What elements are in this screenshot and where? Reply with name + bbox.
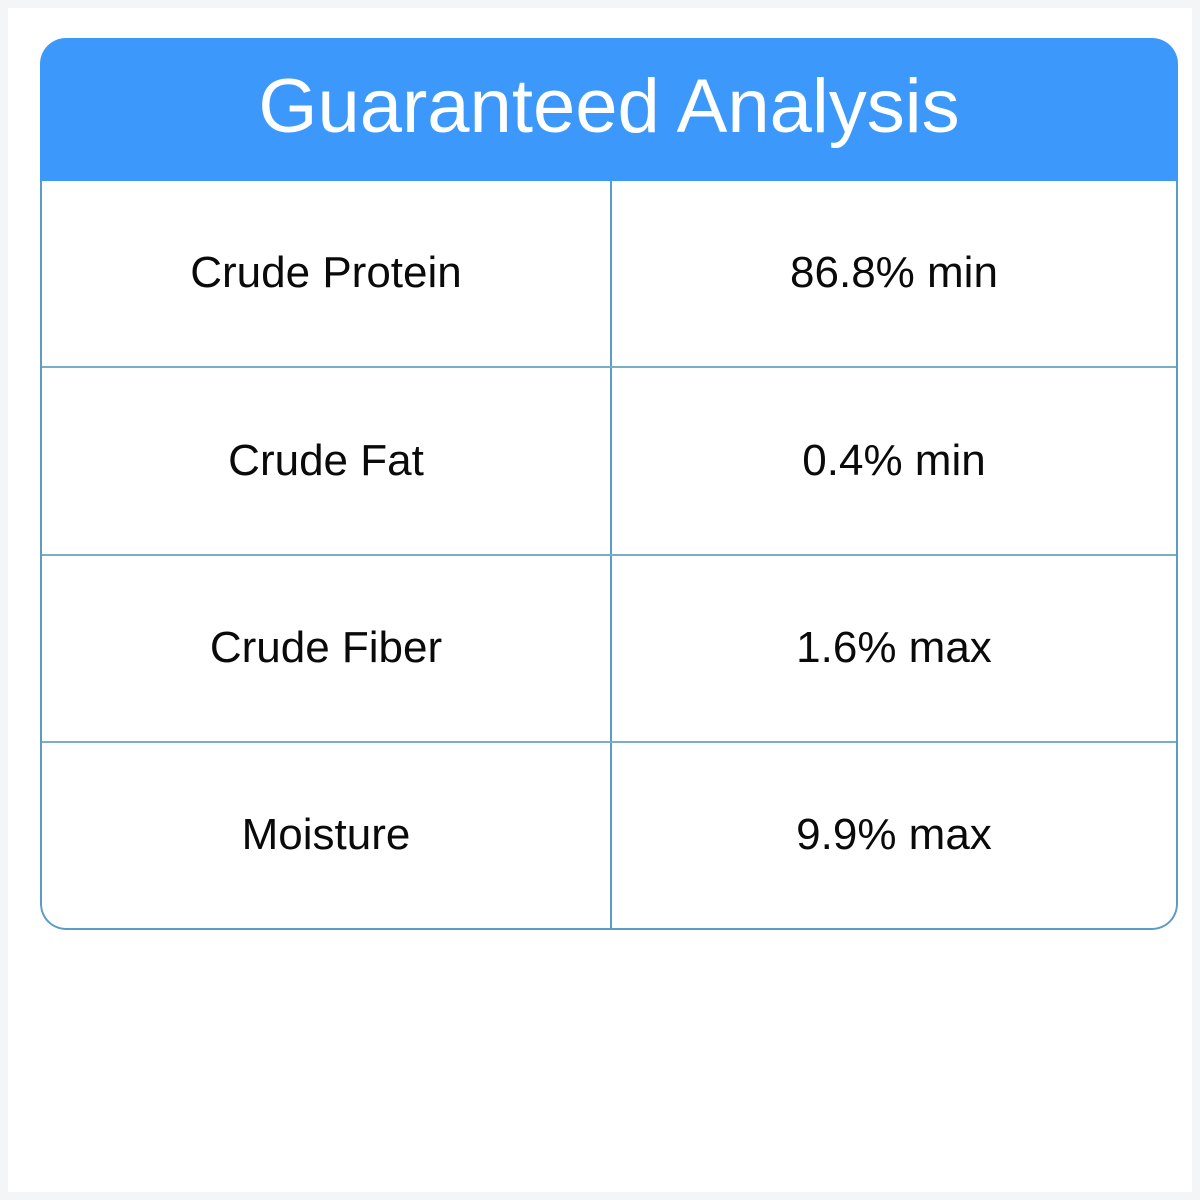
card-header: Guaranteed Analysis [40, 38, 1178, 181]
page-canvas: Guaranteed Analysis Crude Protein 86.8% … [8, 8, 1192, 1192]
nutrient-label: Crude Fat [228, 437, 424, 485]
amount-value: 0.4% min [802, 437, 985, 485]
table-row: Crude Fiber 1.6% max [42, 554, 1176, 741]
nutrient-cell: Moisture [42, 743, 610, 928]
nutrient-cell: Crude Fat [42, 368, 610, 553]
amount-cell: 9.9% max [610, 743, 1176, 928]
nutrient-cell: Crude Fiber [42, 556, 610, 741]
table-row: Crude Fat 0.4% min [42, 366, 1176, 553]
nutrient-label: Crude Protein [190, 249, 461, 297]
table-row: Moisture 9.9% max [42, 741, 1176, 928]
nutrient-label: Crude Fiber [210, 624, 442, 672]
guaranteed-analysis-card: Guaranteed Analysis Crude Protein 86.8% … [40, 38, 1178, 930]
amount-value: 86.8% min [790, 249, 998, 297]
guaranteed-analysis-table: Crude Protein 86.8% min Crude Fat 0.4% m… [40, 181, 1178, 930]
amount-cell: 86.8% min [610, 181, 1176, 366]
page-title: Guaranteed Analysis [258, 69, 959, 151]
amount-value: 9.9% max [796, 811, 992, 859]
amount-cell: 1.6% max [610, 556, 1176, 741]
nutrient-cell: Crude Protein [42, 181, 610, 366]
amount-value: 1.6% max [796, 624, 992, 672]
nutrient-label: Moisture [242, 811, 411, 859]
table-row: Crude Protein 86.8% min [42, 181, 1176, 366]
amount-cell: 0.4% min [610, 368, 1176, 553]
